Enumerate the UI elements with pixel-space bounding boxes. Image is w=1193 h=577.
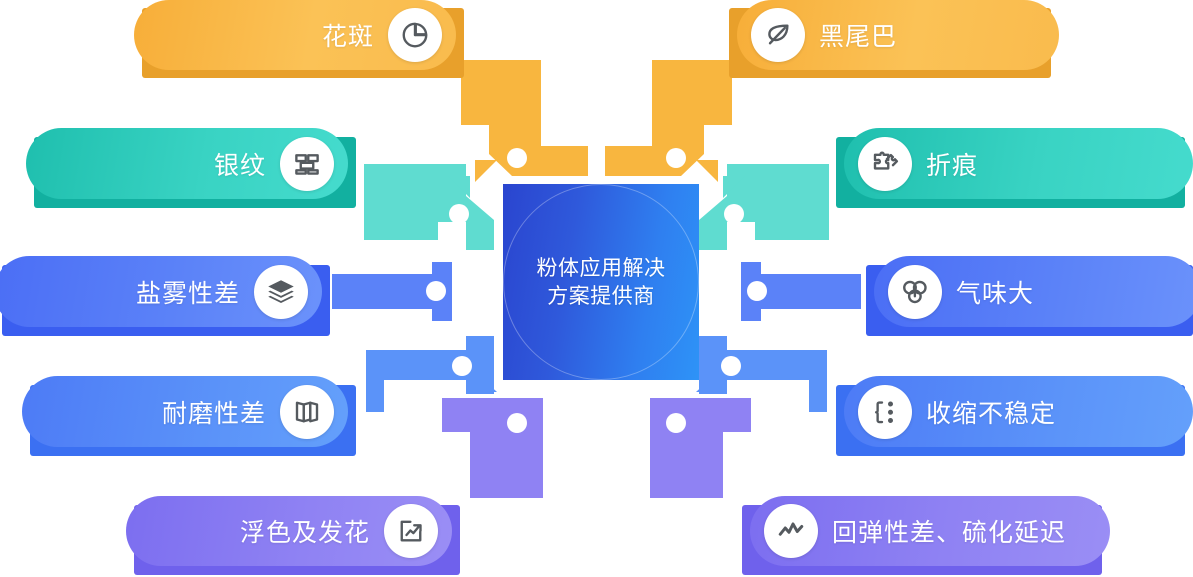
connector-shou-suo-bu-wen-ding xyxy=(696,336,827,412)
node-nai-mo-xing-cha-pill[interactable]: 耐磨性差 xyxy=(22,376,348,447)
node-hei-wei-ba-pill[interactable]: 黑尾巴 xyxy=(737,0,1059,70)
node-hei-wei-ba[interactable]: 黑尾巴 xyxy=(729,0,1059,80)
node-zhe-hen-label: 折痕 xyxy=(926,146,978,182)
connector-zhe-hen xyxy=(699,164,829,250)
line-chart-icon xyxy=(764,504,818,558)
center-hub: 粉体应用解决 方案提供商 xyxy=(503,184,699,380)
node-yan-wu-xing-cha-label: 盐雾性差 xyxy=(136,274,240,310)
node-hui-tan-xing-cha-label: 回弹性差、硫化延迟 xyxy=(832,513,1066,549)
connector-fu-se-ji-fa-hua xyxy=(442,398,543,498)
open-book-icon xyxy=(280,385,334,439)
node-hei-wei-ba-label: 黑尾巴 xyxy=(819,17,897,53)
connector-hei-wei-ba xyxy=(605,60,732,182)
node-nai-mo-xing-cha[interactable]: 耐磨性差 xyxy=(22,376,356,458)
node-fu-se-ji-fa-hua[interactable]: 浮色及发花 xyxy=(126,496,460,577)
node-qi-wei-da-pill[interactable]: 气味大 xyxy=(874,256,1193,327)
node-zhe-hen[interactable]: 折痕 xyxy=(836,128,1193,210)
node-yin-wen-label: 银纹 xyxy=(214,146,266,182)
layers-icon xyxy=(254,265,308,319)
node-yan-wu-xing-cha-pill[interactable]: 盐雾性差 xyxy=(0,256,322,327)
node-nai-mo-xing-cha-label: 耐磨性差 xyxy=(162,394,266,430)
node-yin-wen-pill[interactable]: 银纹 xyxy=(26,128,348,199)
node-hui-tan-xing-cha-pill[interactable]: 回弹性差、硫化延迟 xyxy=(750,496,1110,566)
center-hub-label: 粉体应用解决 方案提供商 xyxy=(537,254,666,310)
node-zhe-hen-pill[interactable]: 折痕 xyxy=(844,128,1193,199)
node-fu-se-ji-fa-hua-label: 浮色及发花 xyxy=(240,513,370,549)
node-hui-tan-xing-cha[interactable]: 回弹性差、硫化延迟 xyxy=(742,496,1110,577)
node-yan-wu-xing-cha[interactable]: 盐雾性差 xyxy=(0,256,330,338)
connector-qi-wei-da xyxy=(741,262,861,321)
diagram-canvas: 粉体应用解决 方案提供商 花斑 xyxy=(0,0,1193,577)
node-hua-ban-label: 花斑 xyxy=(322,17,374,53)
node-yin-wen[interactable]: 银纹 xyxy=(26,128,356,210)
node-shou-suo-bu-wen-ding[interactable]: 收缩不稳定 xyxy=(836,376,1193,458)
pie-chart-icon xyxy=(388,8,442,62)
puzzle-piece-icon xyxy=(858,137,912,191)
node-hua-ban-pill[interactable]: 花斑 xyxy=(134,0,456,70)
connector-nai-mo-xing-cha xyxy=(366,336,497,412)
connector-hua-ban xyxy=(461,60,588,182)
node-qi-wei-da-label: 气味大 xyxy=(956,274,1034,310)
sitemap-icon xyxy=(858,385,912,439)
trending-up-box-icon xyxy=(384,504,438,558)
connector-yin-wen xyxy=(364,164,494,250)
connector-hui-tan-xing-cha xyxy=(650,398,751,498)
recycle-icon xyxy=(888,265,942,319)
connector-yan-wu-xing-cha xyxy=(332,262,452,321)
node-shou-suo-bu-wen-ding-label: 收缩不稳定 xyxy=(926,394,1056,430)
node-hua-ban[interactable]: 花斑 xyxy=(134,0,464,80)
brick-wall-icon xyxy=(280,137,334,191)
node-qi-wei-da[interactable]: 气味大 xyxy=(866,256,1193,338)
leaf-icon xyxy=(751,8,805,62)
node-fu-se-ji-fa-hua-pill[interactable]: 浮色及发花 xyxy=(126,496,452,566)
node-shou-suo-bu-wen-ding-pill[interactable]: 收缩不稳定 xyxy=(844,376,1193,447)
